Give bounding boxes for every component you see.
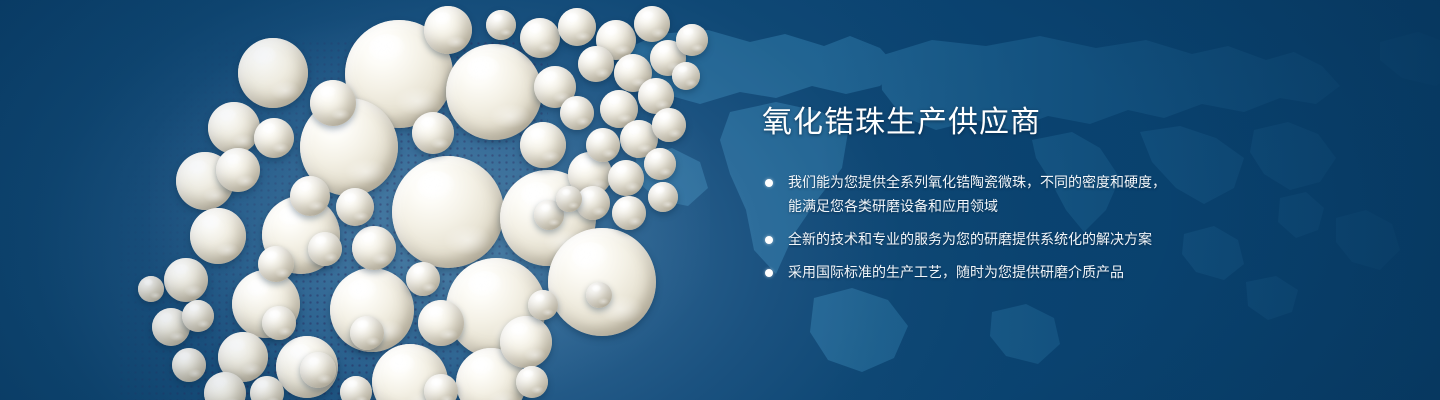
list-item: 我们能为您提供全系列氧化锆陶瓷微珠，不同的密度和硬度， 能满足您各类研磨设备和应… bbox=[762, 171, 1222, 218]
hero-banner: 氧化锆珠生产供应商 我们能为您提供全系列氧化锆陶瓷微珠，不同的密度和硬度， 能满… bbox=[0, 0, 1440, 400]
list-item: 采用国际标准的生产工艺，随时为您提供研磨介质产品 bbox=[762, 261, 1222, 284]
bullet-dot-icon bbox=[765, 236, 773, 244]
list-item-line: 能满足您各类研磨设备和应用领域 bbox=[788, 195, 1222, 218]
list-item-line: 全新的技术和专业的服务为您的研磨提供系统化的解决方案 bbox=[788, 228, 1222, 251]
bullet-dot-icon bbox=[765, 269, 773, 277]
list-item-line: 采用国际标准的生产工艺，随时为您提供研磨介质产品 bbox=[788, 261, 1222, 284]
banner-vignette bbox=[0, 0, 1440, 400]
bullet-dot-icon bbox=[765, 179, 773, 187]
list-item: 全新的技术和专业的服务为您的研磨提供系统化的解决方案 bbox=[762, 228, 1222, 251]
page-title: 氧化锆珠生产供应商 bbox=[762, 105, 1222, 141]
banner-copy: 氧化锆珠生产供应商 我们能为您提供全系列氧化锆陶瓷微珠，不同的密度和硬度， 能满… bbox=[762, 105, 1222, 284]
list-item-line: 我们能为您提供全系列氧化锆陶瓷微珠，不同的密度和硬度， bbox=[788, 171, 1222, 194]
feature-list: 我们能为您提供全系列氧化锆陶瓷微珠，不同的密度和硬度， 能满足您各类研磨设备和应… bbox=[762, 171, 1222, 284]
